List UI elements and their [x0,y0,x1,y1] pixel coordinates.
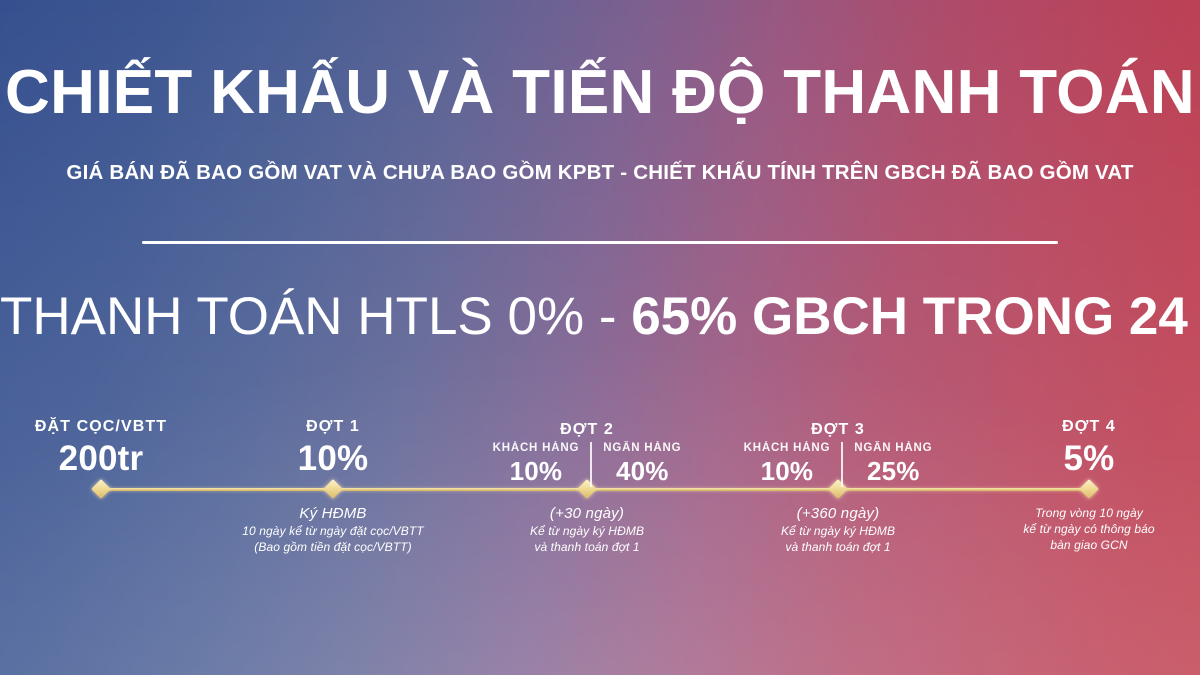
note-line: Trong vòng 10 ngày [989,505,1189,521]
split-customer-value: 10% [744,456,831,487]
split-bank-label: NGÂN HÀNG [603,442,681,454]
split-customer-value: 10% [493,456,580,487]
timeline-node-4 [1079,479,1099,499]
split-bank: NGÂN HÀNG 40% [592,442,692,487]
note-line: Kể từ ngày ký HĐMB [738,523,938,539]
page-title: CHIẾT KHẤU VÀ TIẾN ĐỘ THANH TOÁN [0,62,1200,124]
headline-bold-part: 65% GBCH TRONG 24 THÁNG [631,287,1200,346]
header-divider [142,241,1058,244]
stage-value: 10% [233,439,433,479]
split-customer: KHÁCH HÀNG 10% [733,442,844,487]
stage-label: ĐỢT 2 [487,421,687,439]
note-line: 10 ngày kể từ ngày đặt cọc/VBTT [233,523,433,539]
stage-split: KHÁCH HÀNG 10% NGÂN HÀNG 25% [738,442,938,487]
headline: THANH TOÁN HTLS 0% - 65% GBCH TRONG 24 T… [0,289,1200,345]
note-title: Ký HĐMB [233,505,433,522]
timeline-stage-4: ĐỢT 4 5% [989,419,1189,479]
stage-split: KHÁCH HÀNG 10% NGÂN HÀNG 40% [487,442,687,487]
note-line: Kể từ ngày ký HĐMB [487,523,687,539]
split-bank: NGÂN HÀNG 25% [843,442,943,487]
stage-label: ĐỢT 3 [738,421,938,439]
stage-label: ĐẶT CỌC/VBTT [0,418,202,436]
note-line: và thanh toán đợt 1 [487,539,687,555]
page-subtitle: GIÁ BÁN ĐÃ BAO GỒM VAT VÀ CHƯA BAO GỒM K… [0,161,1200,185]
stage-label: ĐỢT 4 [989,418,1189,436]
split-bank-value: 40% [603,456,681,487]
timeline-stage-2: ĐỢT 2 KHÁCH HÀNG 10% NGÂN HÀNG 40% [487,419,687,487]
note-line: và thanh toán đợt 1 [738,539,938,555]
split-customer-label: KHÁCH HÀNG [493,442,580,454]
note-title: (+30 ngày) [487,505,687,522]
timeline-stage-1: ĐỢT 1 10% [233,419,433,479]
note-title: (+360 ngày) [738,505,938,522]
note-line: bàn giao GCN [989,537,1189,553]
timeline-stage-0: ĐẶT CỌC/VBTT 200tr [0,419,202,479]
stage-value: 5% [989,439,1189,479]
split-customer-label: KHÁCH HÀNG [744,442,831,454]
split-bank-value: 25% [854,456,932,487]
stage-value: 200tr [0,439,202,479]
note-line: kể từ ngày có thông báo [989,521,1189,537]
timeline-node-1 [323,479,343,499]
timeline-node-0 [91,479,111,499]
timeline-stage-3: ĐỢT 3 KHÁCH HÀNG 10% NGÂN HÀNG 25% [738,419,938,487]
split-customer: KHÁCH HÀNG 10% [482,442,593,487]
stage-label: ĐỢT 1 [233,418,433,436]
headline-light-part: THANH TOÁN HTLS 0% - [0,287,631,346]
promo-poster: CHIẾT KHẤU VÀ TIẾN ĐỘ THANH TOÁN GIÁ BÁN… [0,0,1200,675]
split-bank-label: NGÂN HÀNG [854,442,932,454]
note-line: (Bao gồm tiền đặt cọc/VBTT) [233,539,433,555]
